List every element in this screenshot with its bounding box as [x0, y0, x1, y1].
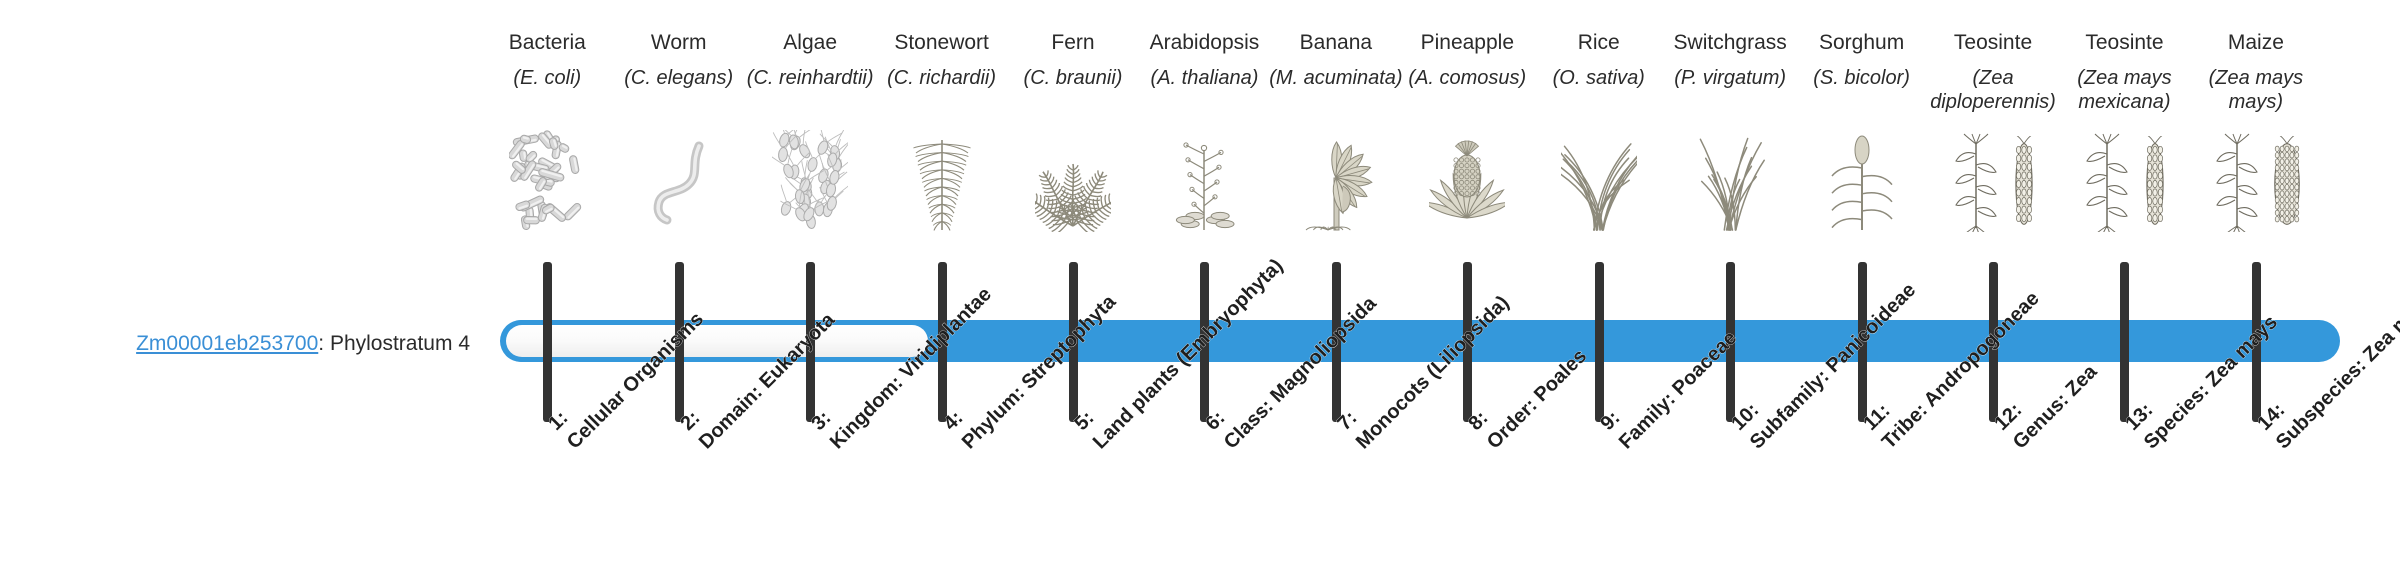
species-common-name: Stonewort [867, 30, 1017, 60]
species-column-worm-2: Worm(C. elegans) [604, 30, 754, 232]
species-common-name: Switchgrass [1655, 30, 1805, 60]
species-column-stonewort-4: Stonewort(C. richardii) [867, 30, 1017, 232]
species-scientific-name: (P. virgatum) [1655, 66, 1805, 118]
phylostratum-value-text: Phylostratum 4 [330, 332, 470, 355]
species-common-name: Sorghum [1787, 30, 1937, 60]
species-common-name: Fern [998, 30, 1148, 60]
species-common-name: Worm [604, 30, 754, 60]
species-common-name: Maize [2181, 30, 2331, 60]
species-common-name: Algae [735, 30, 885, 60]
species-common-name: Banana [1261, 30, 1411, 60]
species-common-name: Teosinte [2049, 30, 2199, 60]
species-scientific-name: (Zea mays mexicana) [2049, 66, 2199, 118]
species-column-arabidopsis-6: Arabidopsis(A. thaliana) [1129, 30, 1279, 232]
species-scientific-name: (A. thaliana) [1129, 66, 1279, 118]
species-common-name: Bacteria [472, 30, 622, 60]
species-column-rice-9: Rice(O. sativa) [1524, 30, 1674, 232]
gene-phylostratum-label: Zm00001eb253700: Phylostratum 4 [40, 332, 470, 356]
track-bar-unreached-fill [506, 325, 928, 357]
species-scientific-name: (C. richardii) [867, 66, 1017, 118]
species-common-name: Pineapple [1392, 30, 1542, 60]
species-scientific-name: (S. bicolor) [1787, 66, 1937, 118]
species-scientific-name: (Zea mays mays) [2181, 66, 2331, 118]
level-tick-1 [543, 262, 552, 422]
species-common-name: Rice [1524, 30, 1674, 60]
species-scientific-name: (C. reinhardtii) [735, 66, 885, 118]
phylostratum-timeline: Zm00001eb253700: Phylostratum 4 Bacteria… [0, 0, 2400, 580]
species-scientific-name: (C. braunii) [998, 66, 1148, 118]
species-common-name: Teosinte [1918, 30, 2068, 60]
species-scientific-name: (A. comosus) [1392, 66, 1542, 118]
gene-id-link[interactable]: Zm00001eb253700 [136, 332, 318, 355]
species-column-teosinte-13: Teosinte(Zea mays mexicana) [2049, 30, 2199, 232]
gene-label-separator: : [318, 332, 330, 355]
species-column-bacteria-1: Bacteria(E. coli) [472, 30, 622, 232]
bacteria-icon [472, 122, 622, 232]
species-common-name: Arabidopsis [1129, 30, 1279, 60]
nematode-worm-icon [604, 122, 754, 232]
species-scientific-name: (M. acuminata) [1261, 66, 1411, 118]
species-scientific-name: (C. elegans) [604, 66, 754, 118]
species-column-sorghum-11: Sorghum(S. bicolor) [1787, 30, 1937, 232]
species-scientific-name: (O. sativa) [1524, 66, 1674, 118]
species-scientific-name: (Zea diploperennis) [1918, 66, 2068, 118]
species-scientific-name: (E. coli) [472, 66, 622, 118]
